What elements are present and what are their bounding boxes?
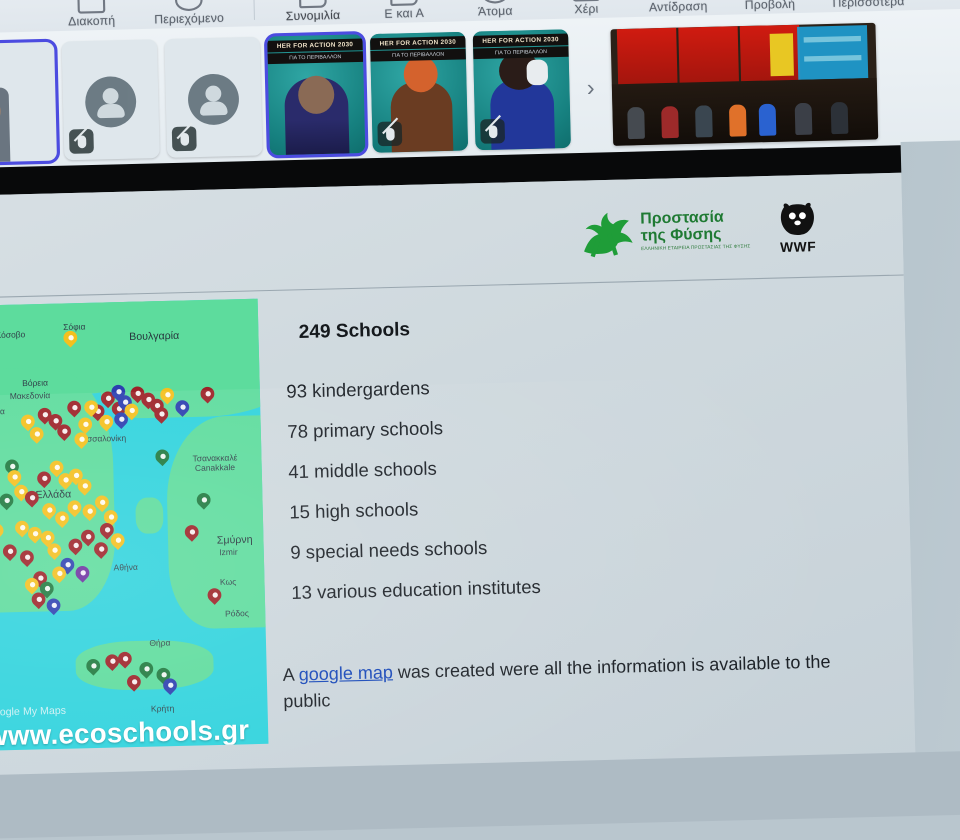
participant-tile-video-3[interactable]: HER FOR ACTION 2030 ΓΙΑ ΤΟ ΠΕΡΙΒΑΛΛΟΝ <box>473 29 571 150</box>
participant-tile-avatar-2[interactable] <box>164 37 262 158</box>
list-item: 15 high schools <box>289 489 788 523</box>
map-pin-red[interactable] <box>25 491 39 510</box>
map-label: Ρόδος <box>225 609 249 619</box>
chat-bubble-icon <box>299 0 327 8</box>
header-divider <box>0 274 904 299</box>
toolbar-item-people[interactable]: Άτομα <box>462 0 529 21</box>
logo-line-3: ΕΛΛΗΝΙΚΗ ΕΤΑΙΡΕΙΑ ΠΡΟΣΤΑΣΙΑΣ ΤΗΣ ΦΥΣΗΣ <box>641 244 751 252</box>
filmstrip-next-arrow-icon[interactable]: › <box>576 67 605 110</box>
map-pin-green[interactable] <box>86 659 100 678</box>
map-label: Θήρα <box>149 638 170 648</box>
list-item: 78 primary schools <box>287 409 786 443</box>
map-pin-red[interactable] <box>185 525 199 544</box>
map-pin-red[interactable] <box>94 542 108 561</box>
footnote-before: A <box>282 665 299 686</box>
google-my-maps-attribution: Google My Maps <box>0 705 66 719</box>
list-item: 13 various education institutes <box>291 570 790 604</box>
map-pin-red[interactable] <box>57 424 71 443</box>
slide-footnote: A google map was created were all the in… <box>282 649 834 715</box>
mic-muted-icon <box>377 121 402 146</box>
toolbar-item-content[interactable]: Περιεχόμενο <box>149 0 228 29</box>
mic-muted-icon <box>172 126 197 151</box>
content-icon <box>175 0 203 11</box>
toolbar-label: Ε και Α <box>384 7 424 21</box>
map-label: Κόσοβο <box>0 330 25 340</box>
map-pin-red[interactable] <box>200 387 214 406</box>
map-pin-yellow[interactable] <box>78 479 92 498</box>
projected-meeting-screen: Διακοπή Περιεχόμενο Συνομιλία Ε και Α Άτ… <box>0 0 960 758</box>
map-label: Μακεδονία <box>10 391 51 402</box>
toolbar-label: Άτομα <box>478 5 513 19</box>
toolbar-item-hand[interactable]: Χέρι <box>553 0 620 19</box>
classroom-photo-tile[interactable] <box>610 23 878 146</box>
map-pin-blue[interactable] <box>175 400 189 419</box>
wall-poster <box>770 33 794 76</box>
map-pin-red[interactable] <box>20 550 34 569</box>
map-pin-green[interactable] <box>139 662 153 681</box>
participant-video-feed <box>284 77 349 155</box>
map-label: Izmir <box>219 547 238 557</box>
toolbar-label: Περιεχόμενο <box>154 12 224 26</box>
stop-share-icon <box>77 0 105 14</box>
panda-icon <box>773 200 823 241</box>
toolbar-label: Διακοπή <box>68 15 115 29</box>
mic-muted-icon <box>480 119 505 144</box>
toolbar-label: Χέρι <box>574 3 598 16</box>
raise-hand-icon <box>572 0 600 2</box>
google-my-map-image: ΒουλγαρίαΚόσοβοΣόφιαΒόρειαΜακεδονίαΑλβαν… <box>0 299 268 751</box>
map-pin-green[interactable] <box>155 449 169 468</box>
map-pin-yellow[interactable] <box>52 566 66 585</box>
toolbar-item-reaction[interactable]: Αντίδραση <box>644 0 712 17</box>
map-pin-yellow[interactable] <box>67 500 81 519</box>
map-label: Κρήτη <box>151 704 174 714</box>
map-label: Σμύρνη <box>217 534 253 547</box>
logo-line-2: της Φύσης <box>641 225 751 244</box>
site-watermark: www.ecoschools.gr <box>0 714 250 751</box>
map-pin-red[interactable] <box>154 407 168 426</box>
toolbar-label: Αντίδραση <box>649 0 708 14</box>
map-pin-yellow[interactable] <box>160 388 174 407</box>
map-pin-green[interactable] <box>197 493 211 512</box>
map-label: Αλβανία <box>0 407 5 417</box>
map-label: Κως <box>220 577 236 587</box>
participant-tile-avatar-1[interactable] <box>62 39 160 160</box>
google-wordmark: Google <box>0 706 20 718</box>
map-pin-yellow[interactable] <box>63 331 77 350</box>
goat-icon <box>576 207 634 257</box>
curtain <box>617 28 678 87</box>
participant-tile-video-2[interactable]: HER FOR ACTION 2030 ΓΙΑ ΤΟ ΠΕΡΙΒΑΛΛΟΝ <box>370 32 468 153</box>
map-pin-red[interactable] <box>118 652 132 671</box>
schools-breakdown-list: 93 kindergardens 78 primary schools 41 m… <box>286 369 790 623</box>
map-pin-purple[interactable] <box>75 566 89 585</box>
map-pin-yellow[interactable] <box>74 432 88 451</box>
toolbar-item-stop[interactable]: Διακοπή <box>58 0 125 31</box>
toolbar-divider <box>253 0 255 20</box>
list-item: 41 middle schools <box>288 449 787 483</box>
map-pin-red[interactable] <box>81 530 95 549</box>
google-map-link[interactable]: google map <box>298 662 393 684</box>
slide-logos: Προστασία της Φύσης ΕΛΛΗΝΙΚΗ ΕΤΑΙΡΕΙΑ ΠΡ… <box>576 200 827 260</box>
map-pin-yellow[interactable] <box>111 533 125 552</box>
background-banner-text: HER FOR ACTION 2030 <box>370 36 466 50</box>
mic-muted-icon <box>69 129 94 154</box>
avatar <box>85 76 137 128</box>
wwf-wordmark: WWF <box>780 238 816 255</box>
curtain <box>678 26 739 85</box>
map-pin-yellow[interactable] <box>124 403 138 422</box>
map-pin-red[interactable] <box>3 544 17 563</box>
avatar <box>187 74 239 126</box>
toolbar-label: Προβολή <box>745 0 796 12</box>
landmass <box>135 497 163 534</box>
participant-tile-partial[interactable] <box>0 42 57 163</box>
toolbar-item-qa[interactable]: Ε και Α <box>371 0 438 23</box>
map-pin-yellow[interactable] <box>30 427 44 446</box>
schools-count-heading: 249 Schools <box>298 318 410 343</box>
list-item: 93 kindergardens <box>286 369 785 403</box>
list-item: 9 special needs schools <box>290 530 789 564</box>
map-pin-red[interactable] <box>127 675 141 694</box>
map-pin-yellow[interactable] <box>84 400 98 419</box>
map-pin-green[interactable] <box>0 493 14 512</box>
map-pin-blue[interactable] <box>111 385 125 404</box>
hellenic-society-logo: Προστασία της Φύσης ΕΛΛΗΝΙΚΗ ΕΤΑΙΡΕΙΑ ΠΡ… <box>576 205 750 258</box>
presentation-slide: ls- the who Προστασία της Φύσης ΕΛΛΗΝΙΚΗ… <box>0 173 916 791</box>
map-pin-red[interactable] <box>207 588 221 607</box>
toolbar-label: Συνομιλία <box>286 9 341 23</box>
background-banner-text: HER FOR ACTION 2030 <box>267 39 363 53</box>
map-pin-red[interactable] <box>32 592 46 611</box>
map-pin-yellow[interactable] <box>47 543 61 562</box>
map-pin-blue[interactable] <box>163 678 177 697</box>
toolbar-label: Περισσότερα <box>832 0 904 10</box>
wwf-logo: WWF <box>768 200 827 255</box>
map-label: Βουλγαρία <box>129 330 179 343</box>
toolbar-item-chat[interactable]: Συνομιλία <box>279 0 346 26</box>
people-icon <box>481 0 509 4</box>
map-pin-blue[interactable] <box>47 598 61 617</box>
map-label: Canakkale <box>195 463 235 474</box>
map-pin-yellow[interactable] <box>0 523 4 542</box>
participant-video-feed <box>0 87 10 162</box>
participant-tile-speaker[interactable]: HER FOR ACTION 2030 ΓΙΑ ΤΟ ΠΕΡΙΒΑΛΛΟΝ <box>267 34 365 155</box>
background-banner-text: HER FOR ACTION 2030 <box>473 33 569 47</box>
map-label: Αθήνα <box>113 563 137 573</box>
my-maps-label: My Maps <box>23 705 66 718</box>
wall-shelf <box>797 25 868 80</box>
qa-icon <box>390 0 418 6</box>
students-row <box>612 78 878 146</box>
map-label: Βόρεια <box>22 378 48 388</box>
